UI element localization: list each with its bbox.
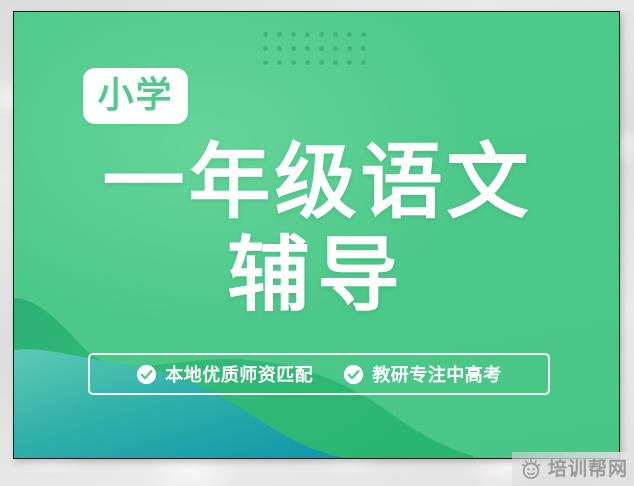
headline-line-2: 辅导 xyxy=(14,231,620,321)
grid-dot xyxy=(263,46,268,51)
grid-dot xyxy=(277,32,282,37)
grid-dot xyxy=(347,32,352,37)
grid-dot xyxy=(263,60,268,65)
grid-dot xyxy=(333,46,338,51)
page-backdrop: 小学 一年级语文 辅导 本地优质师资匹配 教研专注中高考 xyxy=(0,0,634,486)
grid-dot xyxy=(305,60,310,65)
grid-dot xyxy=(361,32,366,37)
grid-dot xyxy=(333,60,338,65)
grid-dot xyxy=(361,46,366,51)
grid-dot xyxy=(305,46,310,51)
feature-item-2: 教研专注中高考 xyxy=(343,361,502,387)
grid-dot xyxy=(319,32,324,37)
check-circle-icon xyxy=(343,364,364,385)
feature-label-2: 教研专注中高考 xyxy=(372,361,502,387)
poster-headline: 一年级语文 辅导 xyxy=(14,140,620,321)
grid-dot xyxy=(277,60,282,65)
grid-dot xyxy=(263,32,268,37)
feature-highlight-bar: 本地优质师资匹配 教研专注中高考 xyxy=(88,353,550,395)
grid-dot xyxy=(333,32,338,37)
watermark-text: 培训帮网 xyxy=(548,460,628,479)
grid-dot xyxy=(347,46,352,51)
smiley-sun-face-logo-icon xyxy=(520,458,542,480)
headline-line-1: 一年级语文 xyxy=(14,140,620,225)
grid-dot xyxy=(347,60,352,65)
watermark: 培训帮网 xyxy=(512,452,634,486)
grid-dot xyxy=(291,32,296,37)
grid-dot xyxy=(277,46,282,51)
grid-dot xyxy=(361,60,366,65)
grid-dot xyxy=(319,60,324,65)
grade-level-badge-label: 小学 xyxy=(97,78,173,114)
feature-item-1: 本地优质师资匹配 xyxy=(136,361,313,387)
grid-dot xyxy=(319,46,324,51)
grade-level-badge: 小学 xyxy=(83,68,188,124)
grid-dot xyxy=(291,46,296,51)
grid-dot xyxy=(305,32,310,37)
poster-card: 小学 一年级语文 辅导 本地优质师资匹配 教研专注中高考 xyxy=(13,11,620,459)
feature-label-1: 本地优质师资匹配 xyxy=(165,361,313,387)
check-circle-icon xyxy=(136,364,157,385)
grid-dot xyxy=(291,60,296,65)
dot-grid-pattern xyxy=(263,32,375,74)
